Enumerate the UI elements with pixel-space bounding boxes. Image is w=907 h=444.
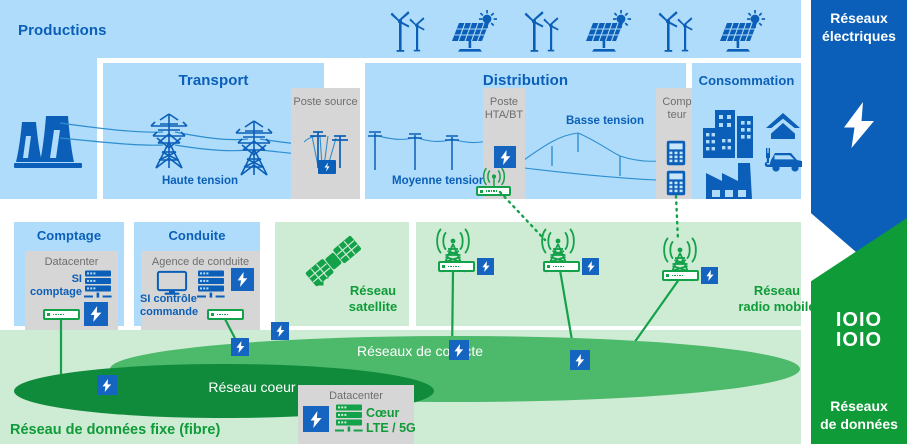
rail-data-line1: Réseaux	[811, 398, 907, 416]
poste-hta-bt-label-line2: HTA/BT	[483, 109, 525, 122]
rail-data-line2: de données	[811, 416, 907, 434]
satellite-label-line2: satellite	[340, 299, 406, 315]
router-ports	[553, 266, 565, 268]
wind-turbine-icon	[654, 10, 698, 52]
radio-mobile-line1: Réseau	[722, 283, 832, 299]
reseaux-de-collecte-label: Réseaux de collecte	[305, 343, 535, 360]
binary-icon: IOIO IOIO	[811, 310, 907, 350]
comptage-bolt-badge	[84, 302, 108, 326]
office-buildings-icon	[703, 108, 761, 158]
server-rack-icon	[84, 270, 112, 298]
bolt-icon	[102, 379, 112, 392]
satellite-icon	[304, 236, 366, 290]
radio-mobile-label: Réseau radio mobile	[722, 283, 832, 314]
router-led	[211, 313, 214, 316]
wind-turbine-icon	[520, 10, 564, 52]
poste-hta-bt-bolt-badge	[494, 146, 516, 168]
comptage-system-line1: SI	[22, 273, 82, 286]
solar-panel-icon	[452, 10, 498, 52]
comptage-system-label: SI comptage	[22, 273, 82, 299]
monitor-icon	[157, 271, 187, 295]
poste-hta-bt-label: Poste HTA/BT	[483, 96, 525, 121]
comptage-system-line2: comptage	[22, 286, 82, 299]
router-led	[547, 265, 550, 268]
comptage-router	[43, 309, 80, 320]
tower1-bolt-badge	[477, 258, 494, 275]
collecte-bolt-badge-3	[449, 340, 469, 360]
electric-meter-icon	[666, 170, 686, 196]
router-ports	[486, 190, 498, 192]
tower2-router	[543, 261, 580, 272]
router-led	[480, 190, 483, 193]
bolt-icon	[482, 261, 490, 272]
pylon-icon	[146, 112, 192, 168]
pylon-icon	[231, 119, 277, 175]
router-led	[47, 313, 50, 316]
router-led	[666, 274, 669, 277]
antenna-icon	[481, 168, 507, 188]
power-plant-icon	[14, 116, 86, 168]
comptage-datacenter-label: Datacenter	[25, 256, 118, 269]
collecte-bolt-badge-2	[231, 338, 249, 356]
rail-electrical-label: Réseaux électriques	[811, 10, 907, 45]
tower3-router	[662, 270, 699, 281]
satellite-label-line1: Réseau	[340, 283, 406, 299]
rail-electrical-line2: électriques	[811, 28, 907, 46]
house-icon	[766, 113, 800, 139]
bolt-icon	[237, 272, 248, 287]
router-ports	[672, 275, 684, 277]
distribution-title: Distribution	[365, 72, 686, 89]
coeur-bolt-badge	[97, 375, 117, 395]
router-ports	[53, 314, 65, 316]
tower2-bolt-badge	[582, 258, 599, 275]
bolt-icon	[236, 341, 245, 353]
consommation-title: Consommation	[690, 73, 803, 88]
bolt-icon	[706, 270, 714, 281]
rail-electrical-line1: Réseaux	[811, 10, 907, 28]
production-icons	[386, 8, 766, 52]
datacenter-core-line2: LTE / 5G	[366, 421, 422, 436]
conduite-system-line1: SI contrôle	[140, 293, 220, 306]
datacenter-core-line1: Cœur	[366, 406, 422, 421]
conduite-bolt-badge	[231, 268, 254, 291]
datacenter-core-label: Cœur LTE / 5G	[366, 406, 422, 436]
bolt-icon	[90, 306, 102, 322]
datacenter-core-title: Datacenter	[298, 390, 414, 403]
productions-title: Productions	[18, 22, 158, 39]
bolt-icon	[310, 411, 322, 428]
haute-tension-label: Haute tension	[120, 175, 280, 189]
solar-panel-icon	[720, 10, 766, 52]
collecte-bolt-badge-1	[271, 322, 289, 340]
conduite-router	[207, 309, 244, 320]
bolt-icon	[843, 102, 875, 148]
satellite-label: Réseau satellite	[340, 283, 406, 314]
factory-icon	[706, 163, 764, 199]
electric-meter-icon	[666, 140, 686, 166]
radio-mobile-line2: radio mobile	[722, 299, 832, 315]
bolt-icon	[276, 325, 285, 337]
electric-car-icon	[761, 146, 805, 172]
bolt-icon	[454, 344, 464, 357]
poste-hta-bt-label-line1: Poste	[483, 96, 525, 109]
server-rack-icon	[335, 404, 363, 432]
router-led	[442, 265, 445, 268]
diagram-root: Productions	[0, 0, 907, 444]
bolt-icon	[575, 354, 585, 367]
tower3-bolt-badge	[701, 267, 718, 284]
datacenter-core-bolt-badge	[303, 406, 329, 432]
transformer-icon	[296, 122, 358, 178]
router-ports	[217, 314, 229, 316]
binary-line2: IOIO	[811, 330, 907, 350]
conduite-agence-label: Agence de conduite	[141, 256, 260, 269]
wind-turbine-icon	[386, 10, 430, 52]
poste-hta-bt-router	[476, 186, 511, 196]
collecte-bolt-badge-4	[570, 350, 590, 370]
tower1-router	[438, 261, 475, 272]
basse-tension-label: Basse tension	[545, 115, 665, 129]
comptage-title: Comptage	[14, 228, 124, 243]
conduite-title: Conduite	[134, 228, 260, 243]
bolt-icon	[587, 261, 595, 272]
reseau-fixe-label: Réseau de données fixe (fibre)	[10, 422, 310, 439]
rail-data-label: Réseaux de données	[811, 398, 907, 433]
transport-title: Transport	[103, 72, 324, 89]
router-ports	[448, 266, 460, 268]
poste-source-label: Poste source	[291, 96, 360, 109]
solar-panel-icon	[586, 10, 632, 52]
bolt-icon	[500, 150, 511, 165]
